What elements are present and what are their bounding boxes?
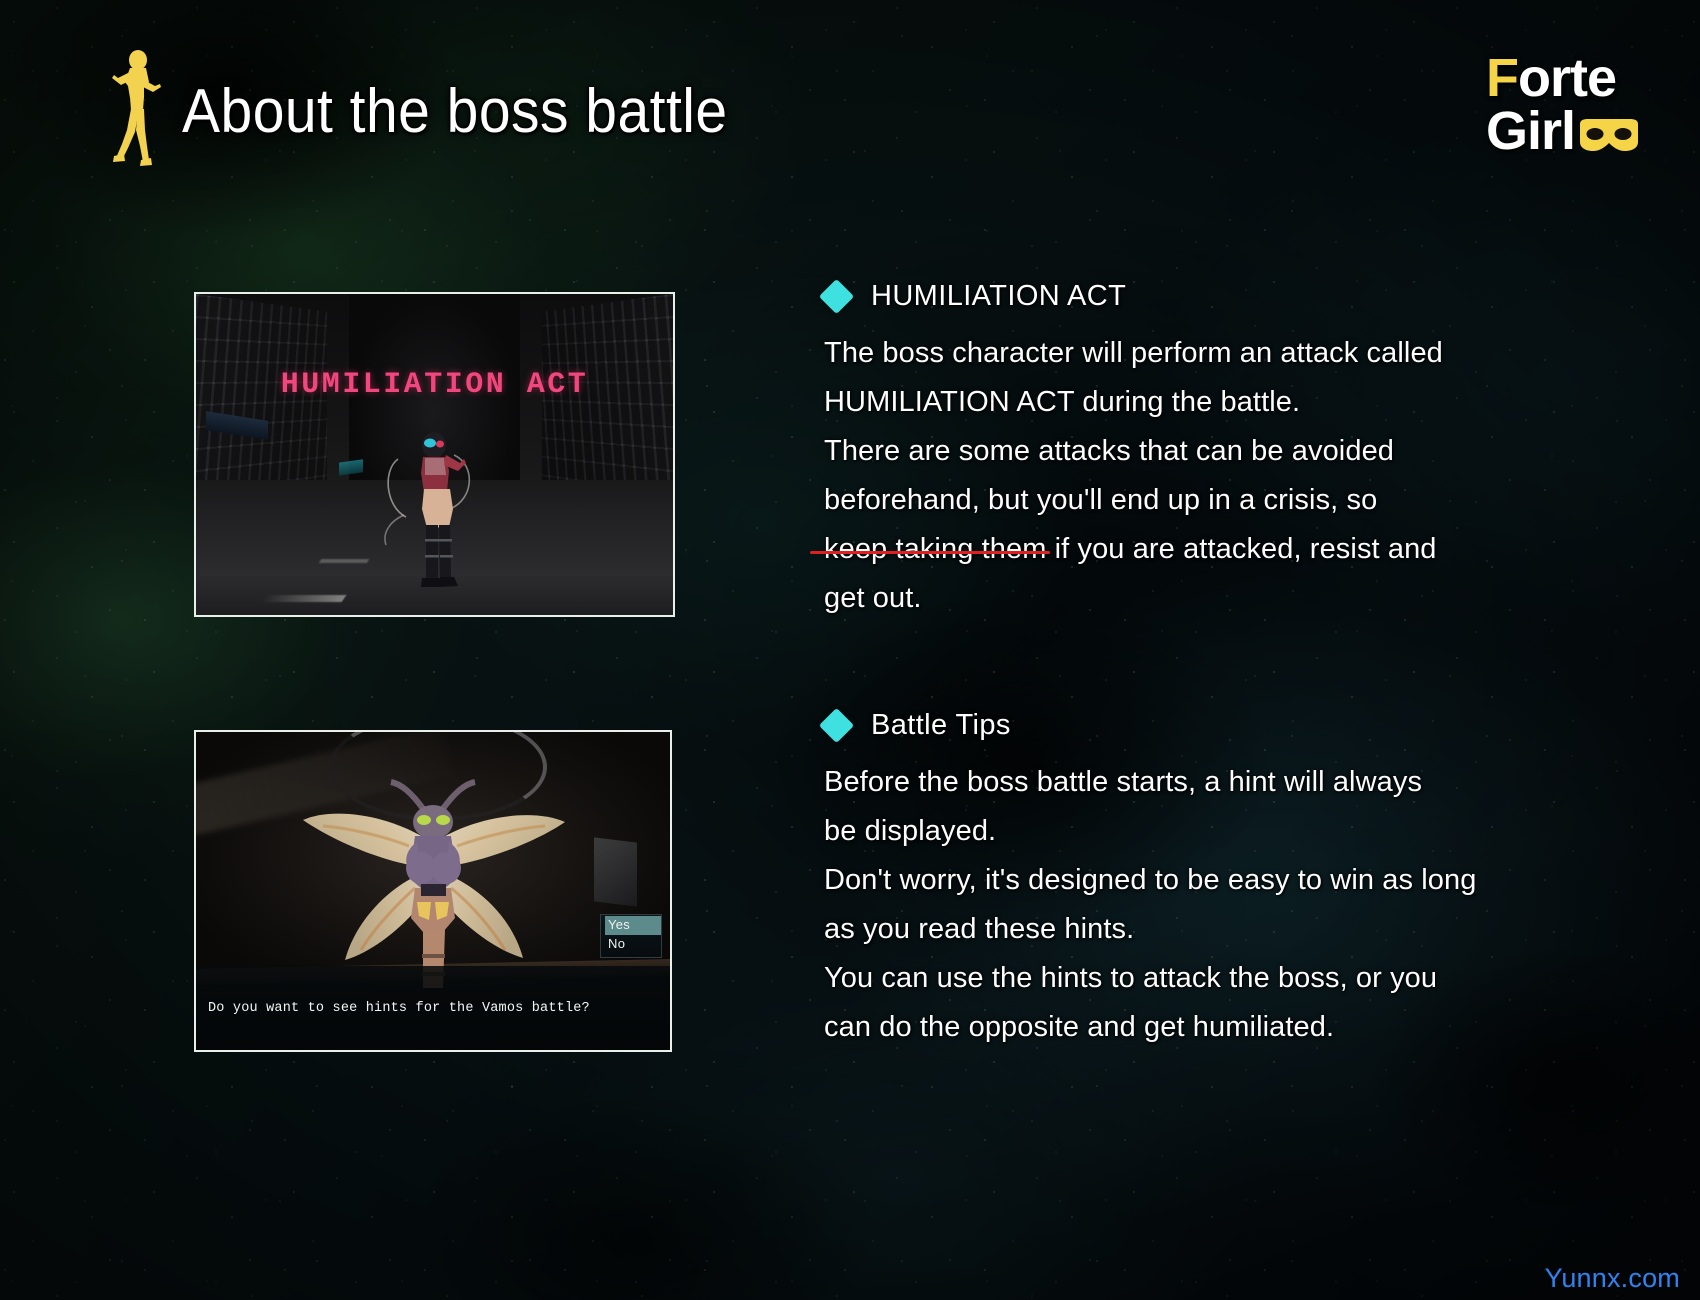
hint-dialog-text: Do you want to see hints for the Vamos b… bbox=[196, 1001, 590, 1016]
section-battle-tips: Battle Tips Before the boss battle start… bbox=[824, 709, 1614, 1052]
hint-choice-no[interactable]: No bbox=[605, 935, 661, 954]
slide-canvas: About the boss battle Forte Girl bbox=[0, 0, 1700, 1300]
brand-girl-text: Girl bbox=[1486, 105, 1575, 158]
hint-scene: Yes No Do you want to see hints for the … bbox=[196, 732, 670, 1050]
section-title: HUMILIATION ACT bbox=[871, 280, 1126, 313]
eye-mask-icon bbox=[1578, 118, 1640, 152]
brand-line-girl: Girl bbox=[1486, 105, 1640, 158]
section-heading: HUMILIATION ACT bbox=[824, 280, 1614, 313]
brand-logo: Forte Girl bbox=[1486, 52, 1640, 158]
body-line: get out. bbox=[824, 574, 1614, 623]
page-header: About the boss battle Forte Girl bbox=[0, 0, 1700, 200]
diamond-bullet-icon bbox=[819, 279, 854, 314]
brand-forte-rest: orte bbox=[1518, 52, 1616, 105]
body-line: as you read these hints. bbox=[824, 905, 1614, 954]
alley-lane-marking bbox=[260, 595, 346, 602]
struck-text: keep taking them bbox=[824, 525, 1046, 574]
hint-choice-menu[interactable]: Yes No bbox=[600, 914, 662, 958]
hint-wall-panel bbox=[594, 837, 637, 906]
screenshot-hint-dialog[interactable]: Yes No Do you want to see hints for the … bbox=[194, 730, 672, 1052]
hint-dialog-box: Do you want to see hints for the Vamos b… bbox=[196, 966, 670, 1050]
humiliation-scene: HUMILIATION ACT bbox=[196, 294, 673, 615]
alley-lane-marking-2 bbox=[319, 559, 369, 563]
brand-line-forte: Forte bbox=[1486, 52, 1640, 105]
body-line: HUMILIATION ACT during the battle. bbox=[824, 378, 1614, 427]
content-column: HUMILIATION ACT The boss character will … bbox=[824, 280, 1614, 1052]
body-line: The boss character will perform an attac… bbox=[824, 329, 1614, 378]
section-humiliation-act: HUMILIATION ACT The boss character will … bbox=[824, 280, 1614, 623]
body-line-struck: keep taking them if you are attacked, re… bbox=[824, 525, 1614, 574]
section-title: Battle Tips bbox=[871, 709, 1011, 742]
watermark: Yunnx.com bbox=[1545, 1263, 1680, 1294]
page-title: About the boss battle bbox=[182, 76, 728, 147]
brand-accent-letter: F bbox=[1486, 52, 1518, 105]
body-line: You can use the hints to attack the boss… bbox=[824, 954, 1614, 1003]
body-line: There are some attacks that can be avoid… bbox=[824, 427, 1614, 476]
screenshot-humiliation-act[interactable]: HUMILIATION ACT bbox=[194, 292, 675, 617]
whip-character-silhouette bbox=[380, 429, 490, 589]
walking-girl-silhouette-icon bbox=[108, 48, 164, 166]
body-line-remainder: if you are attacked, resist and bbox=[1046, 533, 1436, 565]
diamond-bullet-icon bbox=[819, 708, 854, 743]
humiliation-act-overlay-text: HUMILIATION ACT bbox=[281, 368, 589, 402]
body-line: be displayed. bbox=[824, 807, 1614, 856]
body-line: can do the opposite and get humiliated. bbox=[824, 1003, 1614, 1052]
hint-choice-yes[interactable]: Yes bbox=[605, 916, 661, 935]
body-line: Before the boss battle starts, a hint wi… bbox=[824, 758, 1614, 807]
body-line: Don't worry, it's designed to be easy to… bbox=[824, 856, 1614, 905]
body-line: beforehand, but you'll end up in a crisi… bbox=[824, 476, 1614, 525]
section-heading: Battle Tips bbox=[824, 709, 1614, 742]
